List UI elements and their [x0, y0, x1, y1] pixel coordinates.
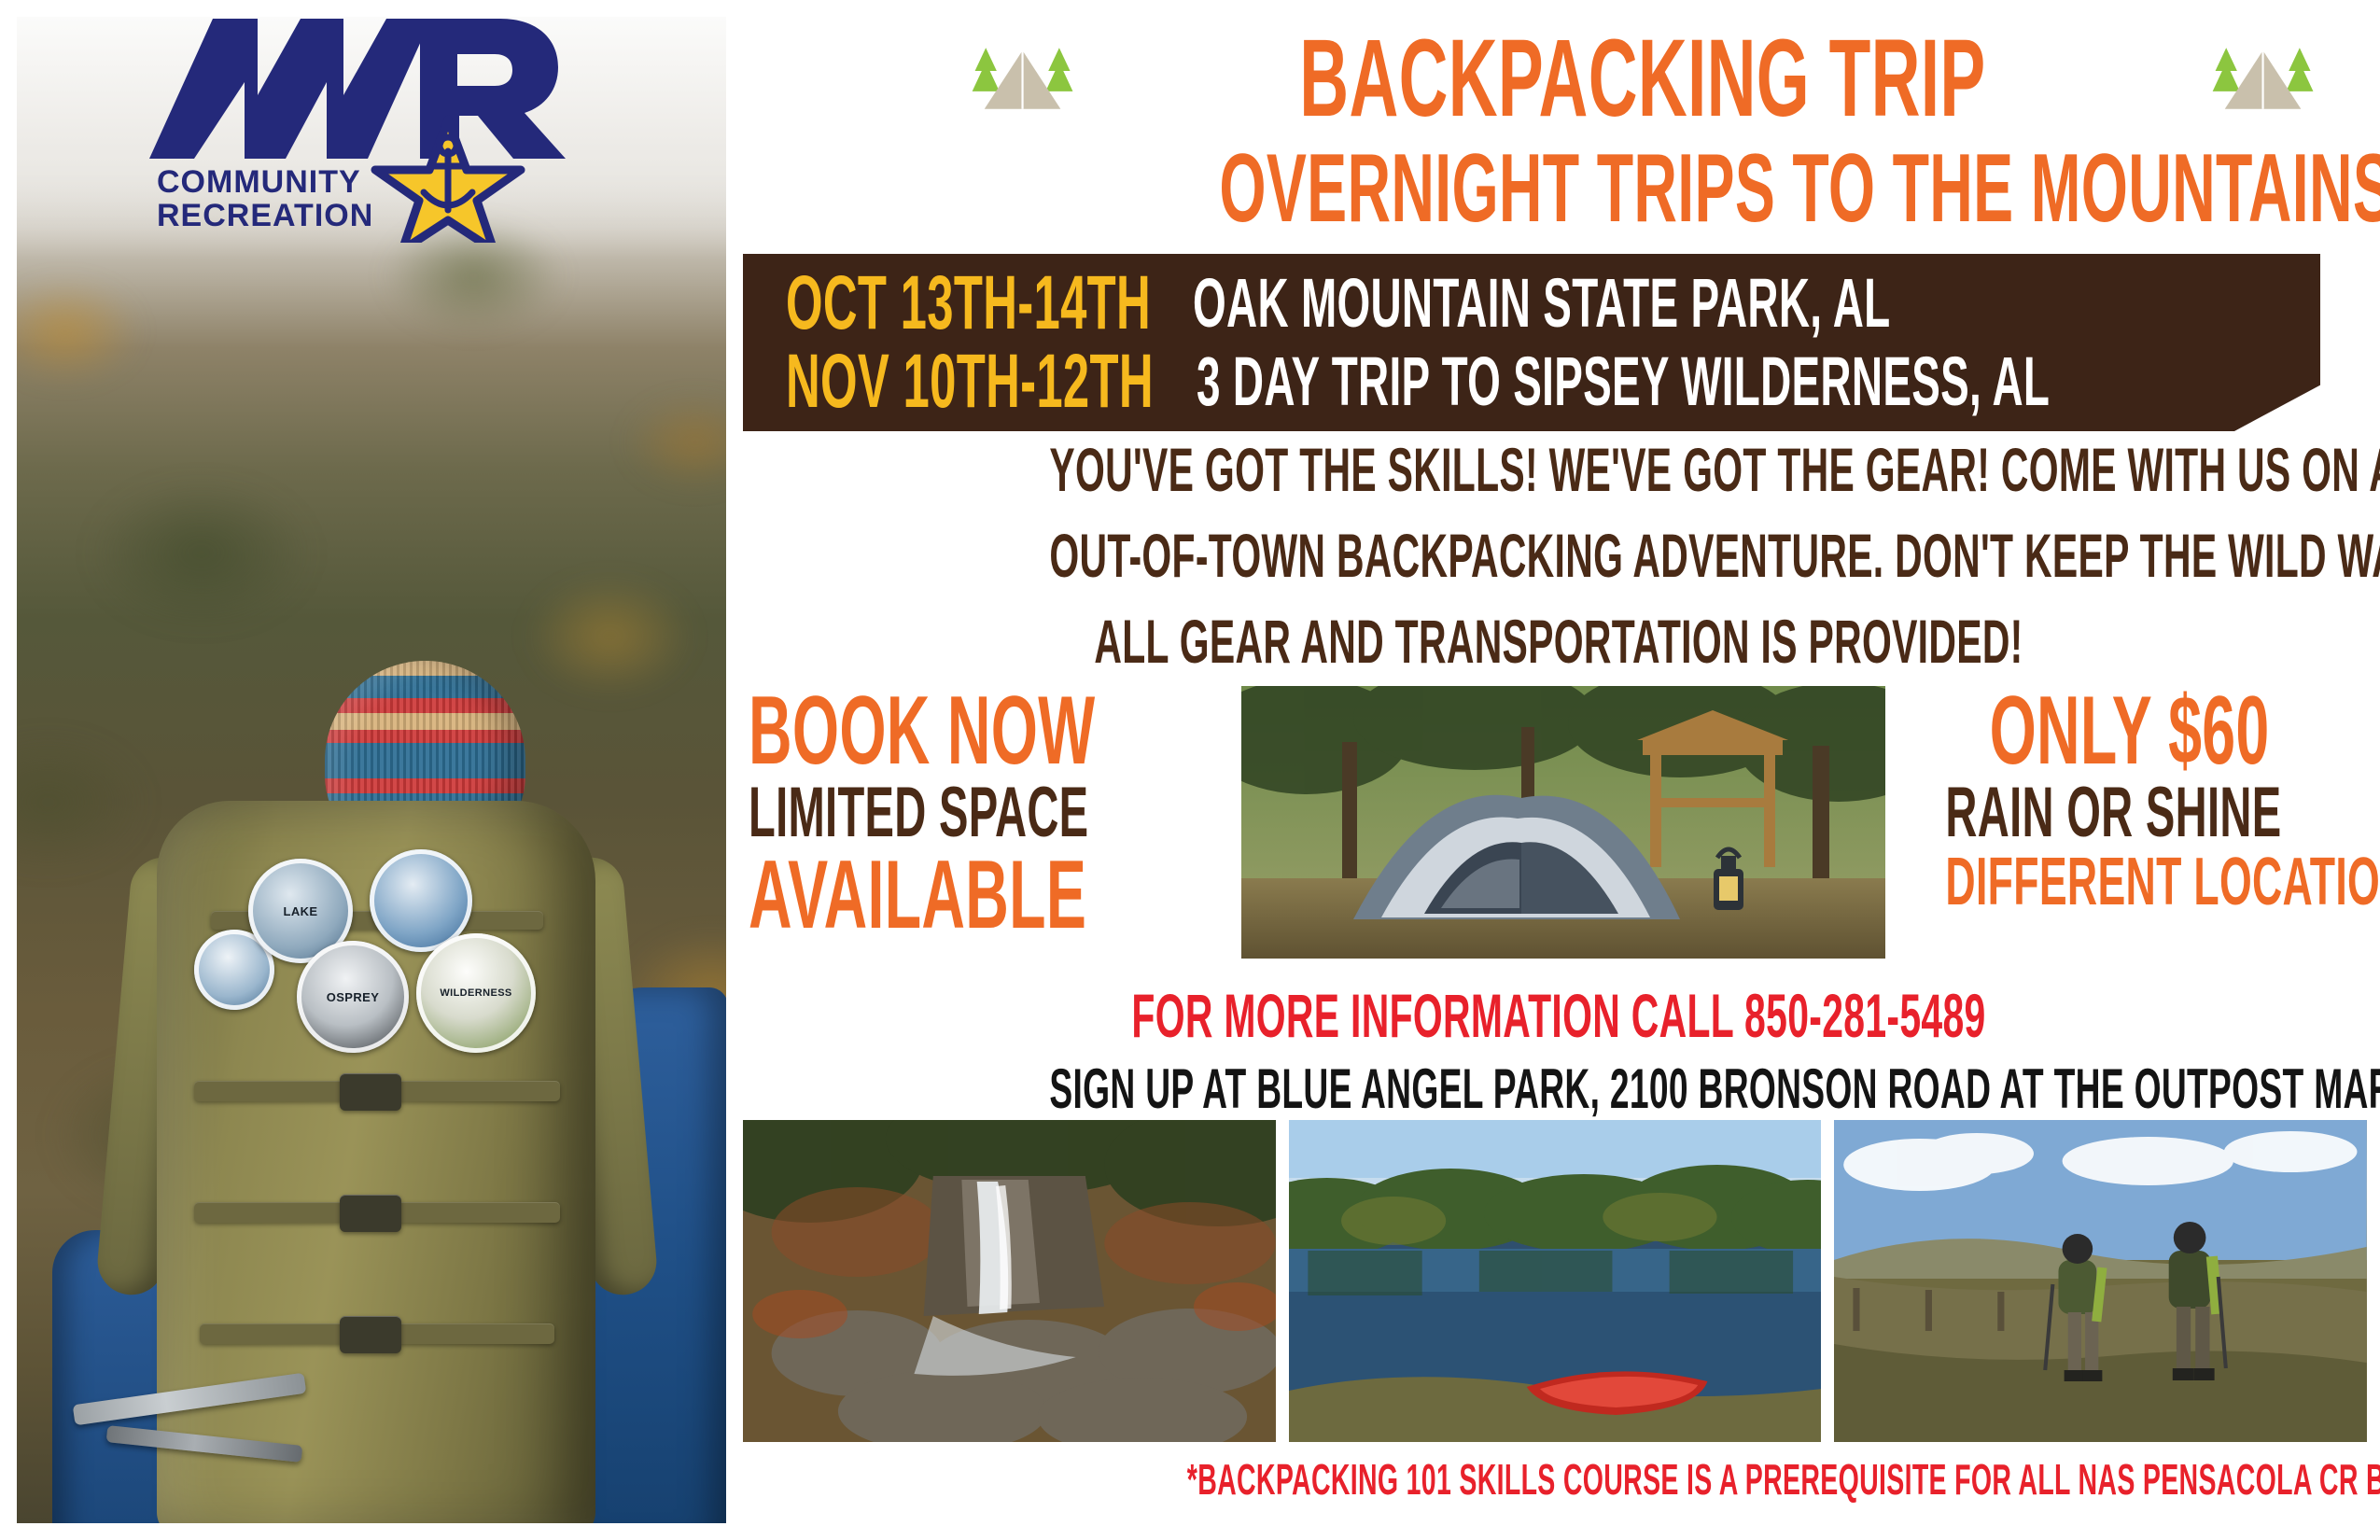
pack-patch-osprey: OSPREY — [297, 941, 409, 1053]
photo-gallery — [743, 1120, 2367, 1442]
page-title: BACKPACKING TRIP — [1299, 23, 1985, 133]
banner-row: OCT 13TH-14TH OAK MOUNTAIN STATE PARK, A… — [786, 263, 2317, 343]
page-subtitle: OVERNIGHT TRIPS TO THE MOUNTAINS IN ALAB… — [1219, 140, 2380, 237]
tent-and-pines-icon — [961, 23, 1084, 133]
different-locations-text: DIFFERENT LOCATIONS — [1945, 848, 2269, 916]
limited-space-text: LIMITED SPACE — [749, 777, 1056, 848]
buckle-mid — [340, 1073, 401, 1111]
lake-canoe-photo — [1289, 1120, 1822, 1442]
offer-row: BOOK NOW LIMITED SPACE AVAILABLE — [737, 686, 2380, 966]
buckle-bottom — [340, 1316, 401, 1353]
contact-block: FOR MORE INFORMATION CALL 850-281-5489 S… — [737, 985, 2380, 1117]
prerequisite-footnote: *BACKPACKING 101 SKILLS COURSE IS A PRER… — [1187, 1458, 2380, 1501]
phone-line[interactable]: FOR MORE INFORMATION CALL 850-281-5489 — [1049, 985, 2067, 1046]
hikers-photo — [1834, 1120, 2367, 1442]
description-line: YOU'VE GOT THE SKILLS! WE'VE GOT THE GEA… — [1049, 439, 2067, 500]
poster-canvas: LAKE OSPREY WILDERNESS — [0, 0, 2380, 1540]
price-block: ONLY $60 RAIN OR SHINE DIFFERENT LOCATIO… — [1846, 686, 2369, 916]
waterfall-svg — [743, 1120, 1276, 1442]
dates-banner: OCT 13TH-14TH OAK MOUNTAIN STATE PARK, A… — [743, 254, 2320, 431]
book-now-block[interactable]: BOOK NOW LIMITED SPACE AVAILABLE — [749, 686, 1243, 944]
tent-campsite-photo — [1241, 686, 1885, 959]
available-text: AVAILABLE — [749, 848, 1056, 944]
description-block: YOU'VE GOT THE SKILLS! WE'VE GOT THE GEA… — [737, 439, 2380, 696]
description-line: OUT-OF-TOWN BACKPACKING ADVENTURE. DON'T… — [1049, 525, 2067, 586]
banner-date: NOV 10TH-12TH — [786, 343, 1154, 420]
banner-row: NOV 10TH-12TH 3 DAY TRIP TO SIPSEY WILDE… — [786, 342, 2380, 422]
book-now-heading: BOOK NOW — [749, 686, 1056, 777]
patch-label-wilderness: WILDERNESS — [416, 933, 536, 1053]
footnote-block: *BACKPACKING 101 SKILLS COURSE IS A PRER… — [737, 1458, 2380, 1501]
tent-and-pines-icon — [2202, 23, 2324, 133]
hiker-with-backpack-photo: LAKE OSPREY WILDERNESS — [17, 17, 726, 1523]
hikers-svg — [1834, 1120, 2367, 1442]
pack-patch-wilderness: WILDERNESS — [416, 933, 536, 1053]
logo-line-recreation: RECREATION — [157, 198, 373, 233]
logo-line-community: COMMUNITY — [157, 164, 361, 200]
buckle-low — [340, 1195, 401, 1232]
waterfall-photo — [743, 1120, 1276, 1442]
subtitle-row: OVERNIGHT TRIPS TO THE MOUNTAINS IN ALAB… — [737, 140, 2380, 237]
poster-content: BACKPACKING TRIP OVERNIGHT TRIPS TO THE … — [737, 0, 2380, 1540]
headline-row: BACKPACKING TRIP — [961, 13, 2324, 144]
banner-date: OCT 13TH-14TH — [786, 265, 1151, 342]
tent-scene-svg — [1241, 686, 1885, 959]
rain-or-shine-text: RAIN OR SHINE — [1945, 777, 2269, 848]
price-heading: ONLY $60 — [1945, 686, 2269, 777]
lake-svg — [1289, 1120, 1822, 1442]
banner-place: 3 DAY TRIP TO SIPSEY WILDERNESS, AL — [1197, 347, 2050, 416]
mwr-wordmark-shape — [149, 19, 566, 159]
patch-label-osprey: OSPREY — [297, 941, 409, 1053]
mwr-community-recreation-logo: COMMUNITY RECREATION — [140, 9, 588, 243]
logo-svg: COMMUNITY RECREATION — [140, 9, 588, 243]
banner-place: OAK MOUNTAIN STATE PARK, AL — [1193, 269, 1890, 338]
description-line: ALL GEAR AND TRANSPORTATION IS PROVIDED! — [1049, 610, 2067, 672]
signup-location-line: SIGN UP AT BLUE ANGEL PARK, 2100 BRONSON… — [1049, 1061, 2067, 1117]
